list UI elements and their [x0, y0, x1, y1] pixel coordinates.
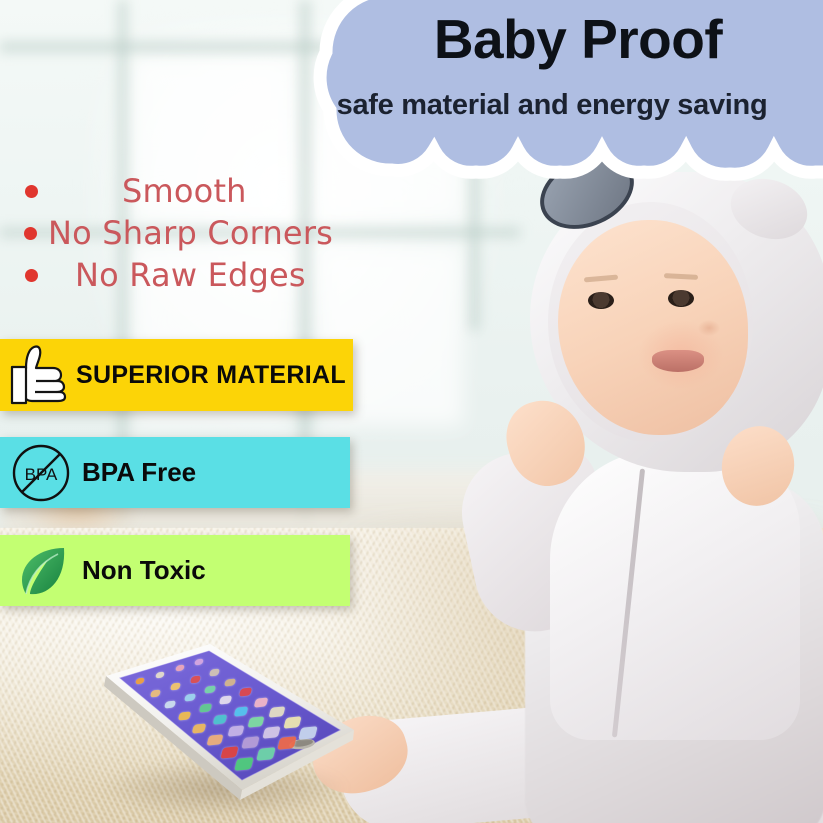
- phone-app-icon: [248, 716, 265, 727]
- phone-app-icon: [233, 706, 248, 716]
- bullet-dot-icon: [25, 185, 38, 198]
- badge-label: SUPERIOR MATERIAL: [76, 361, 346, 390]
- bullet-item: No Sharp Corners: [0, 212, 360, 254]
- phone-app-icon: [269, 707, 286, 718]
- phone-app-icon: [155, 671, 164, 677]
- phone-app-icon: [192, 723, 207, 733]
- phone-app-icon: [254, 697, 269, 707]
- phone-app-icon: [256, 747, 276, 760]
- phone-app-icon: [213, 715, 228, 725]
- phone-app-icon: [284, 716, 302, 728]
- phone-app-icon: [204, 685, 216, 693]
- phone-app-icon: [299, 726, 319, 739]
- phone-app-icon: [263, 726, 281, 738]
- bullet-label: No Raw Edges: [75, 256, 306, 294]
- baby-mouth: [652, 350, 704, 372]
- phone-app-icon: [220, 746, 238, 758]
- leaf-icon: [10, 535, 76, 606]
- promo-banner-image: Baby Proof safe material and energy savi…: [0, 0, 823, 823]
- phone-app-icon: [164, 700, 176, 708]
- phone-app-icon: [178, 712, 192, 721]
- phone-app-icon: [277, 737, 297, 750]
- bullet-label: Smooth: [122, 172, 247, 210]
- bullet-item: Smooth: [0, 170, 360, 212]
- phone-app-icon: [170, 682, 181, 689]
- bpa-icon-text: BPA: [25, 465, 58, 484]
- feature-bullet-list: Smooth No Sharp Corners No Raw Edges: [0, 170, 360, 296]
- phone-app-icon: [175, 665, 184, 671]
- bullet-dot-icon: [24, 227, 37, 240]
- phone-app-icon: [224, 678, 236, 686]
- bullet-label: No Sharp Corners: [48, 214, 333, 252]
- badge-bpa-free: BPA BPA Free: [0, 437, 350, 508]
- bullet-item: No Raw Edges: [0, 254, 360, 296]
- phone-app-icon: [219, 696, 233, 705]
- badge-label: Non Toxic: [82, 555, 206, 586]
- baby-nose: [698, 320, 720, 336]
- badge-superior-material: SUPERIOR MATERIAL: [0, 339, 353, 411]
- phone-app-icon: [150, 689, 161, 696]
- baby-eye-left: [588, 292, 614, 309]
- badge-label: BPA Free: [82, 457, 196, 488]
- phone-app-icon: [234, 758, 254, 771]
- phone-app-icon: [239, 688, 253, 697]
- phone-app-icon: [206, 735, 223, 746]
- badge-non-toxic: Non Toxic: [0, 535, 350, 606]
- phone-app-icon: [241, 736, 259, 748]
- phone-app-icon: [184, 693, 196, 701]
- phone-app-grid: [92, 638, 360, 803]
- baby-eye-right: [668, 290, 694, 307]
- phone-app-icon: [136, 678, 145, 684]
- phone-app-icon: [227, 725, 244, 736]
- bpa-free-icon: BPA: [6, 437, 76, 508]
- phone-app-icon: [195, 659, 204, 665]
- phone-app-icon: [190, 675, 201, 682]
- phone-app-icon: [198, 704, 212, 713]
- toy-smartphone-product: [92, 638, 360, 818]
- phone-app-icon: [209, 668, 220, 675]
- thumbs-up-icon: [2, 339, 76, 411]
- baby-photo: [430, 150, 823, 823]
- cloud-shape: [320, 0, 823, 174]
- bullet-dot-icon: [25, 269, 38, 282]
